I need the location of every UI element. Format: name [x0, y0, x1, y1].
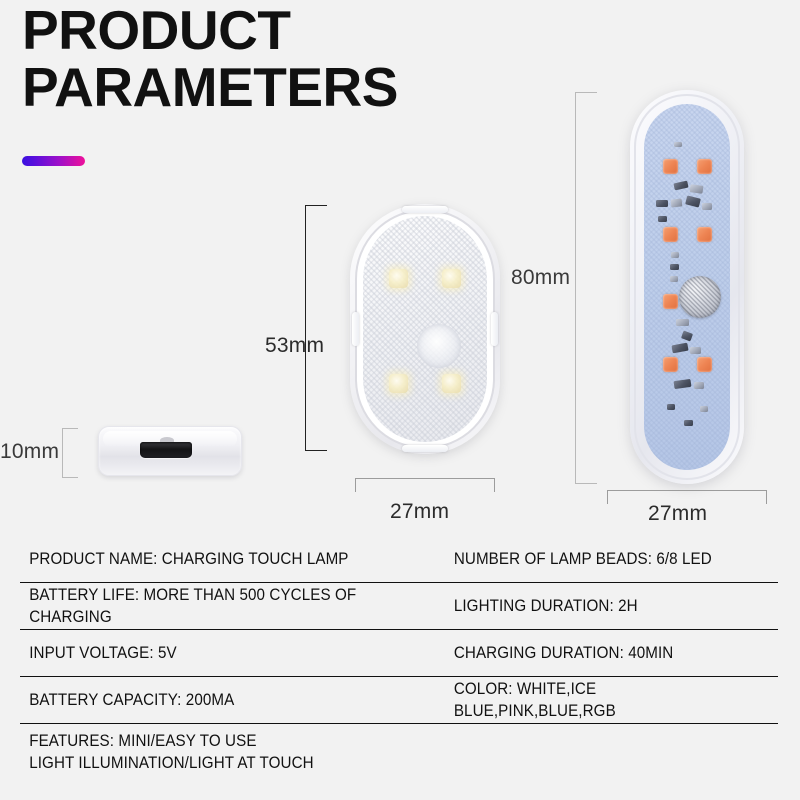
led-bead [663, 227, 678, 242]
pcb-component [700, 406, 708, 412]
spec-table: PRODUCT NAME: CHARGING TOUCH LAMP NUMBER… [20, 536, 778, 788]
pcb-component [694, 382, 704, 389]
page-title-line-1: PRODUCT [22, 2, 542, 59]
pcb-component [667, 404, 675, 410]
micro-usb-port-icon [140, 442, 192, 458]
table-row: FEATURES: MINI/EASY TO USE LIGHT ILLUMIN… [20, 724, 778, 788]
dimension-label-53mm: 53mm [265, 334, 324, 358]
pcb-component [681, 331, 693, 342]
pcb-component [674, 142, 682, 147]
lamp-shell [350, 204, 500, 454]
spec-cell-right: COLOR: WHITE,ICE BLUE,PINK,BLUE,RGB [452, 678, 752, 723]
touch-sensor-icon [417, 324, 461, 368]
spec-cell-right: LIGHTING DURATION: 2H [452, 595, 752, 617]
led-bead [442, 374, 461, 393]
pcb-component [684, 420, 693, 426]
table-row: INPUT VOLTAGE: 5V CHARGING DURATION: 40M… [20, 630, 778, 677]
spec-cell-right: CHARGING DURATION: 40MIN [452, 642, 752, 664]
pcb-component [658, 216, 667, 222]
dimension-bracket-27mm-front [355, 478, 495, 492]
led-bead [663, 294, 678, 309]
page-title: PRODUCT PARAMETERS [22, 2, 542, 115]
dimension-bracket-53mm [305, 205, 327, 451]
pcb-component [702, 203, 712, 210]
led-bead [663, 159, 678, 174]
pcb-component [674, 379, 692, 389]
pcb-component [690, 347, 701, 354]
spec-cell-left: BATTERY CAPACITY: 200MA [20, 689, 418, 711]
table-row: PRODUCT NAME: CHARGING TOUCH LAMP NUMBER… [20, 536, 778, 583]
product-pcb-view [630, 90, 744, 484]
product-front-view [350, 204, 500, 454]
pcb-lamp-shell [630, 90, 744, 484]
accent-bar [22, 156, 85, 166]
led-bead [442, 269, 461, 288]
led-bead [697, 227, 712, 242]
pcb-component [671, 252, 679, 258]
dimension-label-80mm: 80mm [511, 266, 570, 290]
dimension-label-27mm-front: 27mm [390, 500, 449, 524]
lamp-clip-right [491, 312, 498, 346]
pcb-component [690, 184, 704, 194]
dimension-bracket-10mm [62, 428, 78, 478]
pcb-component [671, 198, 683, 207]
led-bead [697, 159, 712, 174]
pcb-component [676, 319, 689, 326]
dimension-label-27mm-pcb: 27mm [648, 502, 707, 526]
touch-sensor-icon [679, 276, 721, 318]
pcb-component [673, 181, 688, 191]
lamp-clip-bottom [402, 445, 448, 452]
pcb-component [671, 343, 688, 354]
lamp-diffuser-face [363, 216, 487, 442]
table-row: BATTERY CAPACITY: 200MA COLOR: WHITE,ICE… [20, 677, 778, 724]
led-bead [389, 374, 408, 393]
spec-cell-left: FEATURES: MINI/EASY TO USE LIGHT ILLUMIN… [20, 730, 418, 775]
led-bead [697, 357, 712, 372]
table-row: BATTERY LIFE: MORE THAN 500 CYCLES OF CH… [20, 583, 778, 630]
led-bead [663, 357, 678, 372]
lamp-clip-top [402, 206, 448, 213]
pcb-board [644, 104, 730, 470]
pcb-component [685, 195, 701, 207]
spec-cell-left: PRODUCT NAME: CHARGING TOUCH LAMP [20, 548, 418, 570]
led-bead [389, 269, 408, 288]
pcb-component [670, 264, 679, 270]
page-title-line-2: PARAMETERS [22, 59, 542, 116]
pcb-component [656, 200, 668, 207]
spec-cell-right: NUMBER OF LAMP BEADS: 6/8 LED [452, 548, 752, 570]
dimension-bracket-80mm [575, 92, 597, 484]
spec-cell-left: BATTERY LIFE: MORE THAN 500 CYCLES OF CH… [20, 584, 418, 629]
spec-cell-left: INPUT VOLTAGE: 5V [20, 642, 418, 664]
dimension-label-10mm: 10mm [0, 440, 59, 464]
lamp-clip-left [352, 312, 359, 346]
pcb-component [670, 276, 678, 282]
product-side-view [90, 418, 250, 486]
